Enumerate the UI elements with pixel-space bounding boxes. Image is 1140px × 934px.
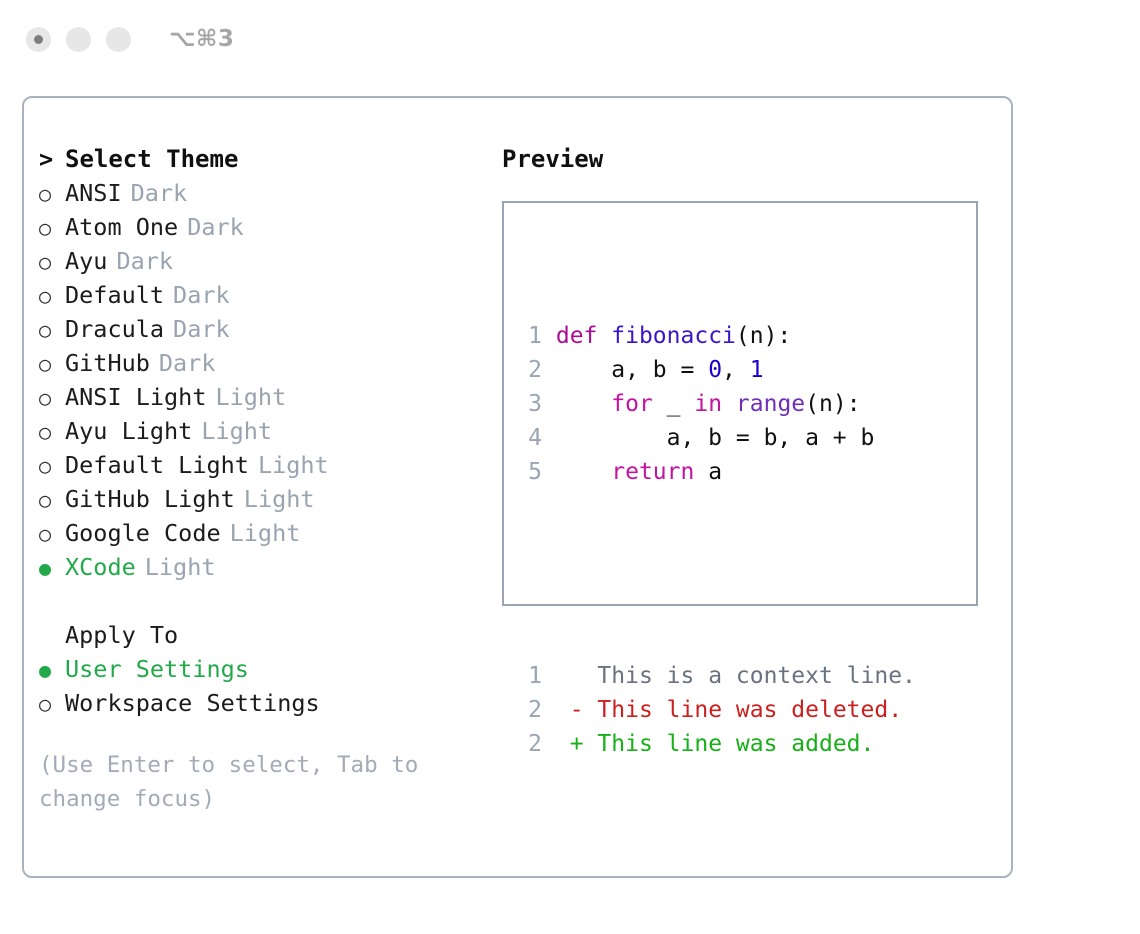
code-token: fibonacci xyxy=(611,323,736,349)
code-token: (n): xyxy=(736,323,791,349)
theme-list: ○ANSIDark○Atom OneDark○AyuDark○DefaultDa… xyxy=(39,176,479,584)
code-token: 1 xyxy=(750,357,764,383)
diff-line-number: 2 xyxy=(518,693,542,727)
radio-selected-icon: ● xyxy=(39,551,65,585)
theme-list-item[interactable]: ○Default LightLight xyxy=(39,448,479,482)
window-traffic-lights xyxy=(26,27,131,52)
theme-name: GitHub xyxy=(65,346,150,380)
diff-text: This is a context line. xyxy=(597,663,916,689)
theme-variant-tag: Light xyxy=(258,448,329,482)
window-titlebar: ⌥⌘3 xyxy=(0,0,1140,78)
code-line-number: 2 xyxy=(518,353,542,387)
radio-unselected-icon: ○ xyxy=(39,381,65,415)
main-panel: >Select Theme ○ANSIDark○Atom OneDark○Ayu… xyxy=(22,96,1013,878)
code-line-number: 3 xyxy=(518,387,542,421)
theme-name: Ayu Light xyxy=(65,414,192,448)
theme-variant-tag: Dark xyxy=(116,244,173,278)
panel-columns: >Select Theme ○ANSIDark○Atom OneDark○Ayu… xyxy=(24,98,1011,876)
theme-list-item[interactable]: ○GitHubDark xyxy=(39,346,479,380)
theme-variant-tag: Light xyxy=(145,550,216,584)
diff-sign: + xyxy=(570,731,584,757)
theme-name: ANSI xyxy=(65,176,122,210)
theme-list-item[interactable]: ○Ayu LightLight xyxy=(39,414,479,448)
theme-variant-tag: Light xyxy=(244,482,315,516)
theme-name: Atom One xyxy=(65,210,178,244)
window-dot-active-icon[interactable] xyxy=(26,27,51,52)
radio-unselected-icon: ○ xyxy=(39,245,65,279)
radio-unselected-icon: ○ xyxy=(39,279,65,313)
code-line-number: 1 xyxy=(518,319,542,353)
code-token: _ xyxy=(653,391,695,417)
window-title: ⌥⌘3 xyxy=(169,26,234,52)
diff-line-number: 2 xyxy=(518,727,542,761)
code-token: a, b = xyxy=(556,357,708,383)
keyboard-hint: (Use Enter to select, Tab to change focu… xyxy=(39,748,449,816)
code-line: 5 return a xyxy=(518,455,916,489)
code-blank-line xyxy=(518,557,916,591)
code-line-number: 4 xyxy=(518,421,542,455)
apply-to-item[interactable]: ●User Settings xyxy=(39,652,479,686)
preview-code: 1 def fibonacci(n):2 a, b = 0, 13 for _ … xyxy=(518,251,916,829)
apply-to-item[interactable]: ○Workspace Settings xyxy=(39,686,479,720)
caret-icon: > xyxy=(39,142,65,176)
apply-to-heading: Apply To xyxy=(39,618,479,652)
diff-line-number: 1 xyxy=(518,659,542,693)
radio-unselected-icon: ○ xyxy=(39,313,65,347)
theme-name: XCode xyxy=(65,550,136,584)
theme-variant-tag: Light xyxy=(230,516,301,550)
theme-name: Default xyxy=(65,278,164,312)
theme-list-item[interactable]: ○DefaultDark xyxy=(39,278,479,312)
apply-to-label: User Settings xyxy=(65,652,249,686)
theme-selection-column: >Select Theme ○ANSIDark○Atom OneDark○Ayu… xyxy=(39,142,479,816)
theme-list-item[interactable]: ○DraculaDark xyxy=(39,312,479,346)
code-token: (n): xyxy=(805,391,860,417)
apply-to-list: ●User Settings○Workspace Settings xyxy=(39,652,479,720)
theme-variant-tag: Light xyxy=(201,414,272,448)
code-token: 0 xyxy=(708,357,722,383)
code-token xyxy=(556,391,611,417)
theme-variant-tag: Dark xyxy=(173,278,230,312)
diff-sign xyxy=(570,663,584,689)
theme-variant-tag: Dark xyxy=(159,346,216,380)
theme-name: ANSI Light xyxy=(65,380,206,414)
radio-unselected-icon: ○ xyxy=(39,177,65,211)
radio-unselected-icon: ○ xyxy=(39,483,65,517)
theme-list-item[interactable]: ●XCodeLight xyxy=(39,550,479,584)
code-token: return xyxy=(611,459,694,485)
code-line: 2 a, b = 0, 1 xyxy=(518,353,916,387)
theme-list-item[interactable]: ○AyuDark xyxy=(39,244,479,278)
theme-variant-tag: Dark xyxy=(173,312,230,346)
code-token: def xyxy=(556,323,598,349)
code-token xyxy=(722,391,736,417)
list-spacer xyxy=(39,584,479,618)
theme-variant-tag: Dark xyxy=(187,210,244,244)
code-token xyxy=(556,459,611,485)
radio-unselected-icon: ○ xyxy=(39,687,65,721)
window-dot-third-icon[interactable] xyxy=(106,27,131,52)
preview-column: Preview 1 def fibonacci(n):2 a, b = 0, 1… xyxy=(502,142,992,606)
diff-text: This line was deleted. xyxy=(597,697,902,723)
code-token: , xyxy=(722,357,750,383)
theme-list-item[interactable]: ○Atom OneDark xyxy=(39,210,479,244)
theme-variant-tag: Dark xyxy=(131,176,188,210)
theme-list-item[interactable]: ○ANSIDark xyxy=(39,176,479,210)
code-token: range xyxy=(736,391,805,417)
diff-sample: 1 This is a context line.2 - This line w… xyxy=(518,659,916,761)
code-line: 1 def fibonacci(n): xyxy=(518,319,916,353)
select-theme-heading: >Select Theme xyxy=(39,142,479,176)
theme-variant-tag: Light xyxy=(215,380,286,414)
theme-list-item[interactable]: ○ANSI LightLight xyxy=(39,380,479,414)
theme-list-item[interactable]: ○GitHub LightLight xyxy=(39,482,479,516)
app-window: ⌥⌘3 >Select Theme ○ANSIDark○Atom OneDark… xyxy=(0,0,1140,934)
window-dot-second-icon[interactable] xyxy=(66,27,91,52)
theme-name: Google Code xyxy=(65,516,221,550)
diff-line: 2 - This line was deleted. xyxy=(518,693,916,727)
preview-heading: Preview xyxy=(502,142,992,176)
radio-unselected-icon: ○ xyxy=(39,449,65,483)
theme-name: Dracula xyxy=(65,312,164,346)
radio-unselected-icon: ○ xyxy=(39,347,65,381)
preview-box: 1 def fibonacci(n):2 a, b = 0, 13 for _ … xyxy=(502,201,978,606)
code-line-number: 5 xyxy=(518,455,542,489)
radio-selected-icon: ● xyxy=(39,653,65,687)
diff-line: 2 + This line was added. xyxy=(518,727,916,761)
radio-unselected-icon: ○ xyxy=(39,211,65,245)
code-token: a xyxy=(694,459,722,485)
code-line: 4 a, b = b, a + b xyxy=(518,421,916,455)
code-token: a, b = b, a + b xyxy=(556,425,875,451)
code-line: 3 for _ in range(n): xyxy=(518,387,916,421)
diff-line: 1 This is a context line. xyxy=(518,659,916,693)
theme-name: Default Light xyxy=(65,448,249,482)
diff-text: This line was added. xyxy=(597,731,874,757)
code-sample: 1 def fibonacci(n):2 a, b = 0, 13 for _ … xyxy=(518,319,916,489)
theme-name: Ayu xyxy=(65,244,107,278)
radio-unselected-icon: ○ xyxy=(39,517,65,551)
select-theme-heading-label: Select Theme xyxy=(65,142,238,176)
code-token xyxy=(597,323,611,349)
radio-unselected-icon: ○ xyxy=(39,415,65,449)
diff-sign: - xyxy=(570,697,584,723)
theme-list-item[interactable]: ○Google CodeLight xyxy=(39,516,479,550)
code-token: for xyxy=(611,391,653,417)
theme-name: GitHub Light xyxy=(65,482,235,516)
code-token: in xyxy=(694,391,722,417)
apply-to-label: Workspace Settings xyxy=(65,686,320,720)
